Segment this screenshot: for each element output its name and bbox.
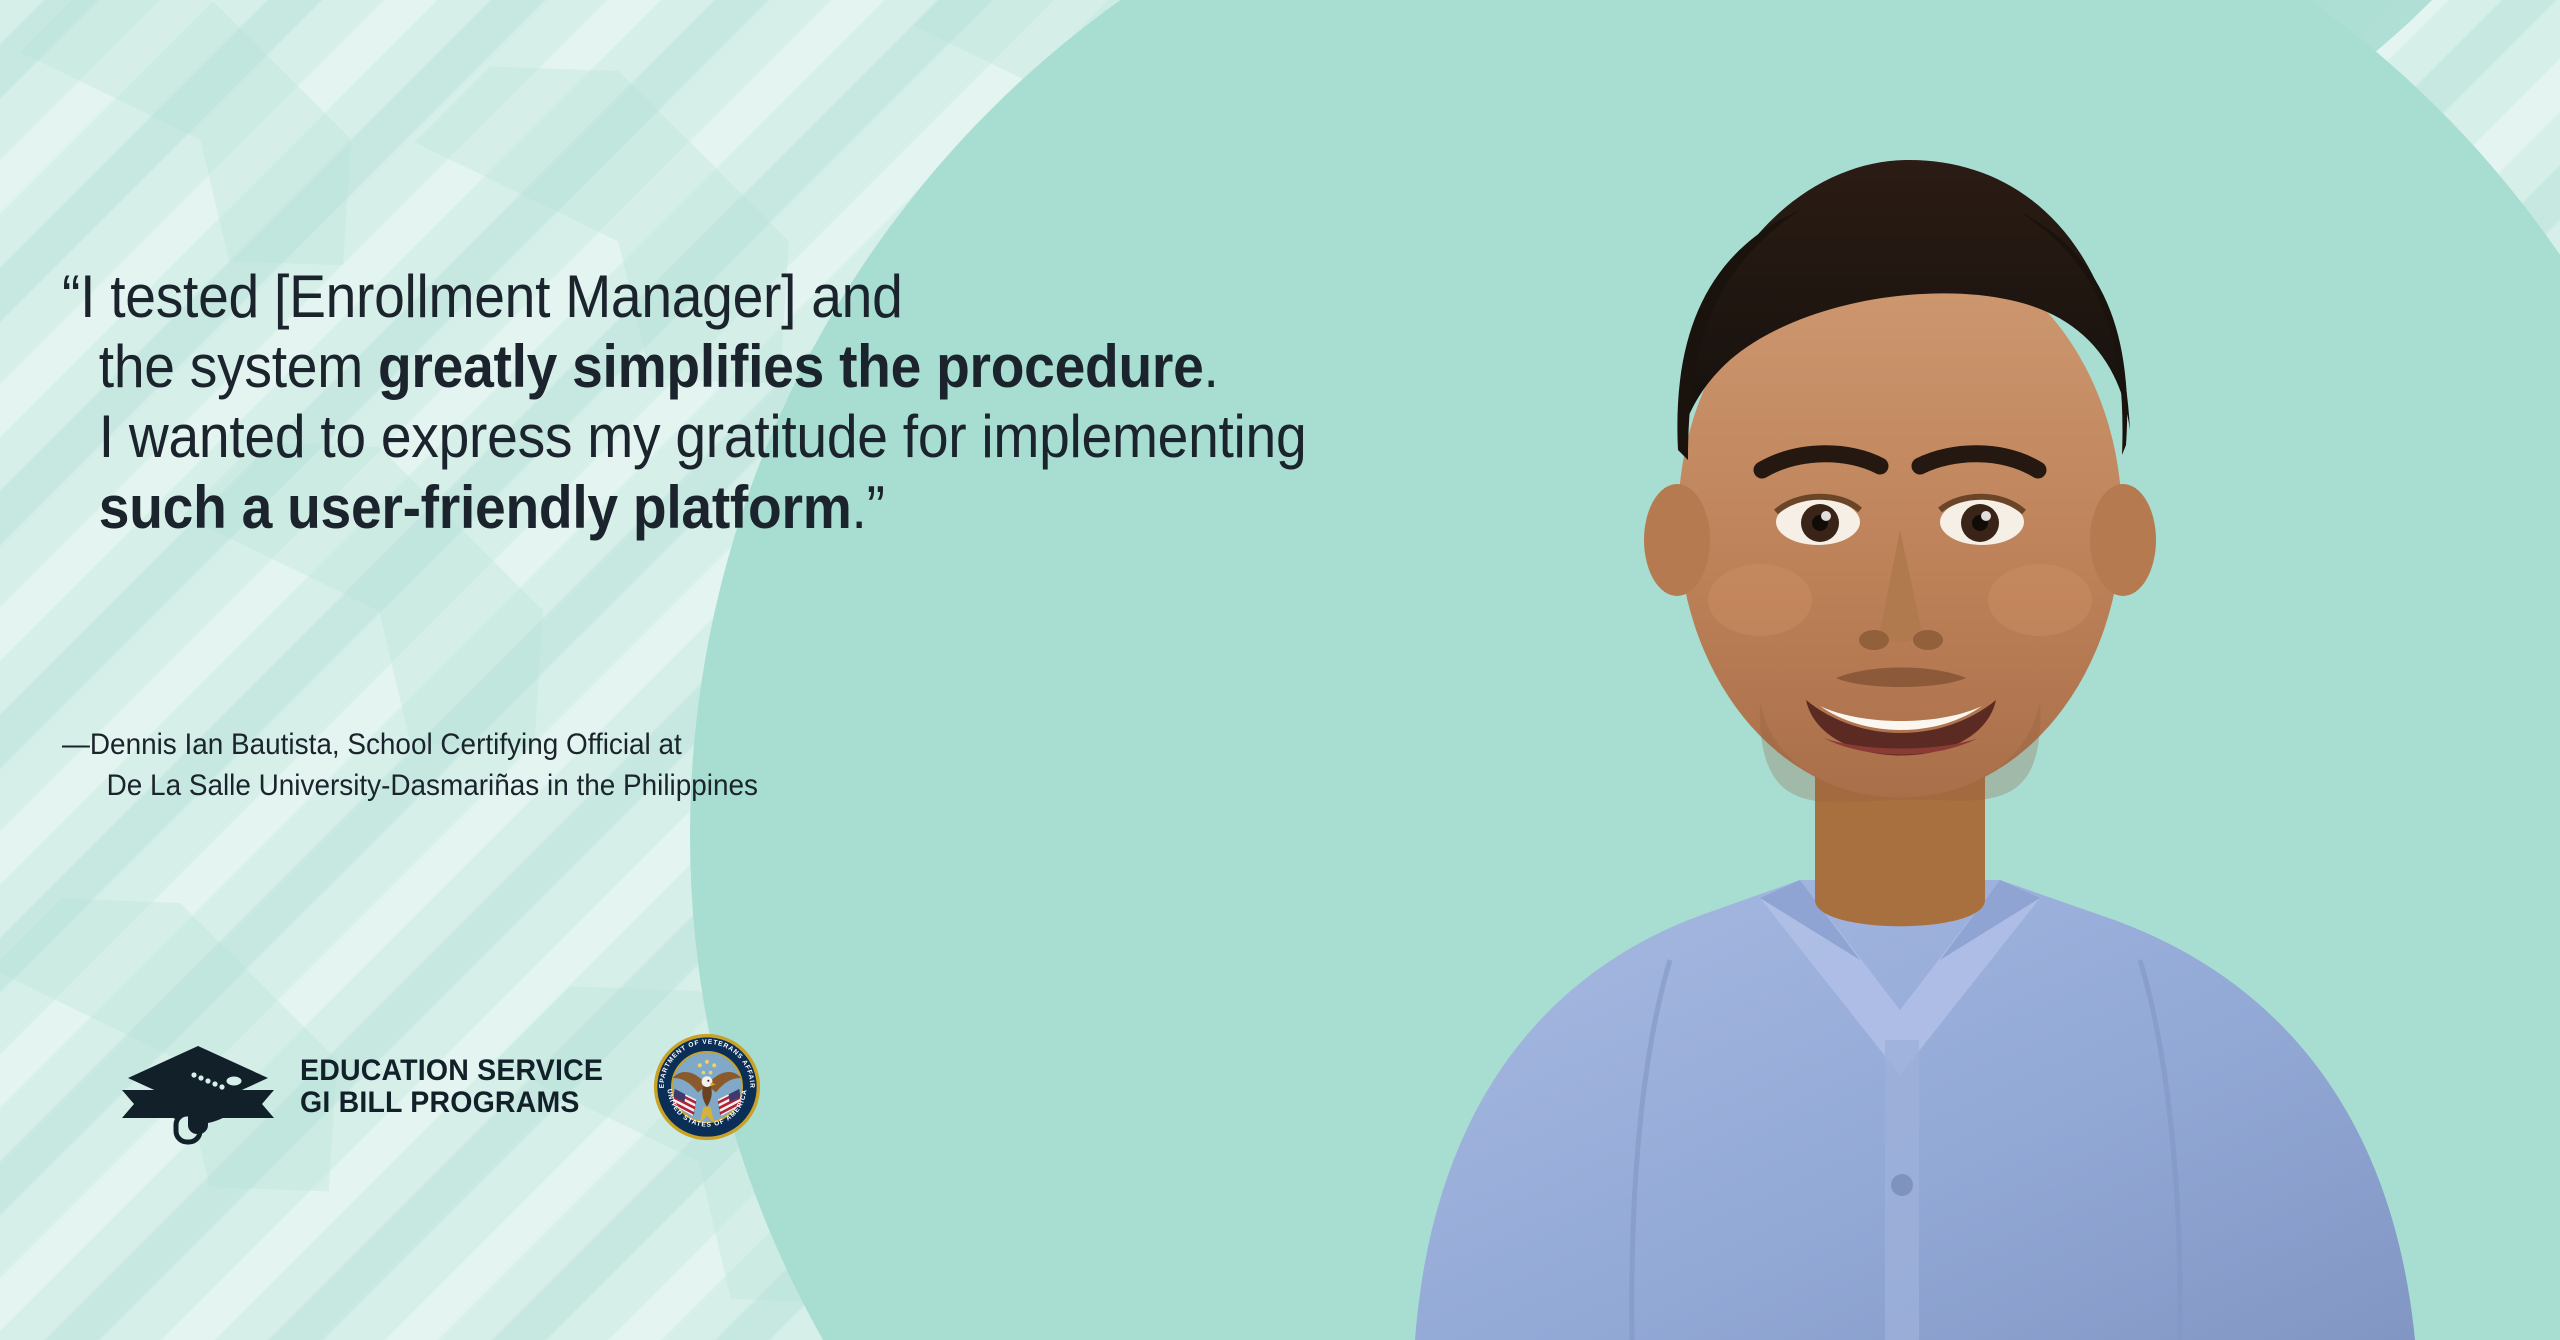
quote-line-2-emphasis: greatly simplifies the procedure bbox=[378, 333, 1204, 400]
education-service-wordmark: EDUCATION SERVICE GI BILL PROGRAMS bbox=[300, 1055, 603, 1120]
quote-attribution: —Dennis Ian Bautista, School Certifying … bbox=[62, 725, 758, 806]
attribution-line-2: De La Salle University-Dasmariñas in the… bbox=[62, 766, 758, 807]
quote-line-2-plain: the system bbox=[99, 333, 378, 400]
testimonial-banner: “I tested [Enrollment Manager] and the s… bbox=[0, 0, 2560, 1340]
attribution-line-1: —Dennis Ian Bautista, School Certifying … bbox=[62, 725, 758, 766]
va-seal-icon: DEPARTMENT OF VETERANS AFFAIRS UNITED ST… bbox=[653, 1033, 761, 1141]
logo-row: EDUCATION SERVICE GI BILL PROGRAMS bbox=[118, 1028, 761, 1146]
graduation-cap-dogtags-icon bbox=[118, 1028, 278, 1146]
quote-line-4-emphasis: such a user-friendly platform bbox=[99, 474, 852, 541]
education-service-line-2: GI BILL PROGRAMS bbox=[300, 1087, 603, 1119]
quote-line-4-tail: .” bbox=[852, 474, 885, 541]
quote-line-2-tail: . bbox=[1204, 333, 1219, 400]
education-service-line-1: EDUCATION SERVICE bbox=[300, 1055, 603, 1087]
education-service-logo: EDUCATION SERVICE GI BILL PROGRAMS bbox=[118, 1028, 619, 1146]
portrait-photo bbox=[1240, 0, 2560, 1340]
